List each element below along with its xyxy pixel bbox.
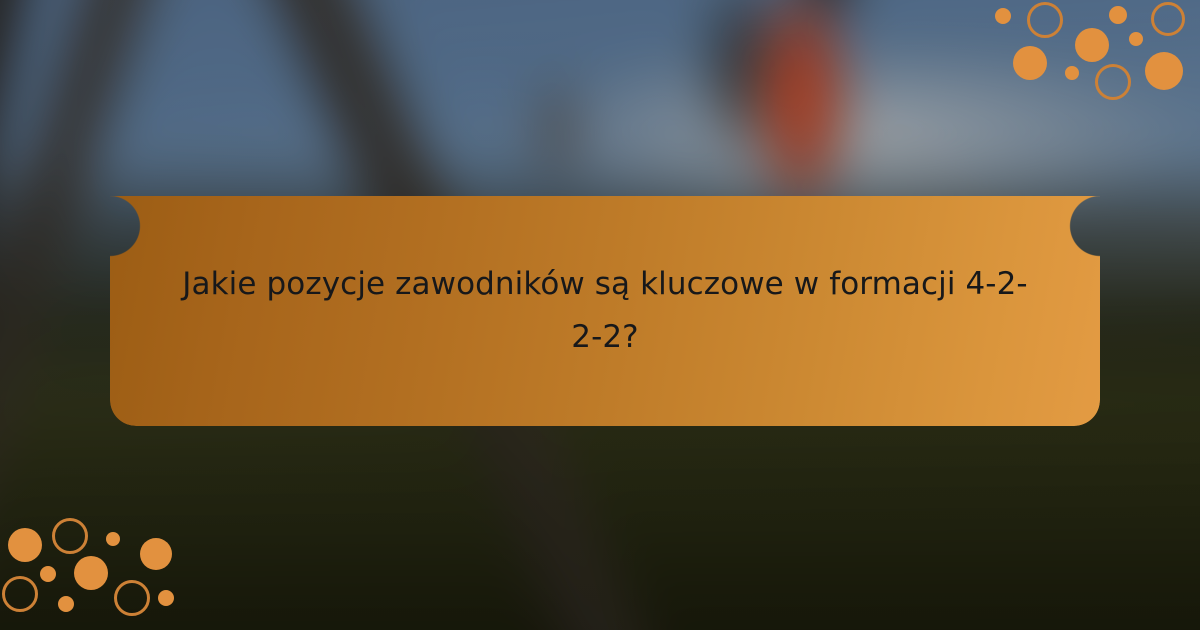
question-text: Jakie pozycje zawodników są kluczowe w f… (110, 258, 1100, 365)
share-card-image: Jakie pozycje zawodników są kluczowe w f… (0, 0, 1200, 630)
question-card: Jakie pozycje zawodników są kluczowe w f… (110, 196, 1100, 426)
